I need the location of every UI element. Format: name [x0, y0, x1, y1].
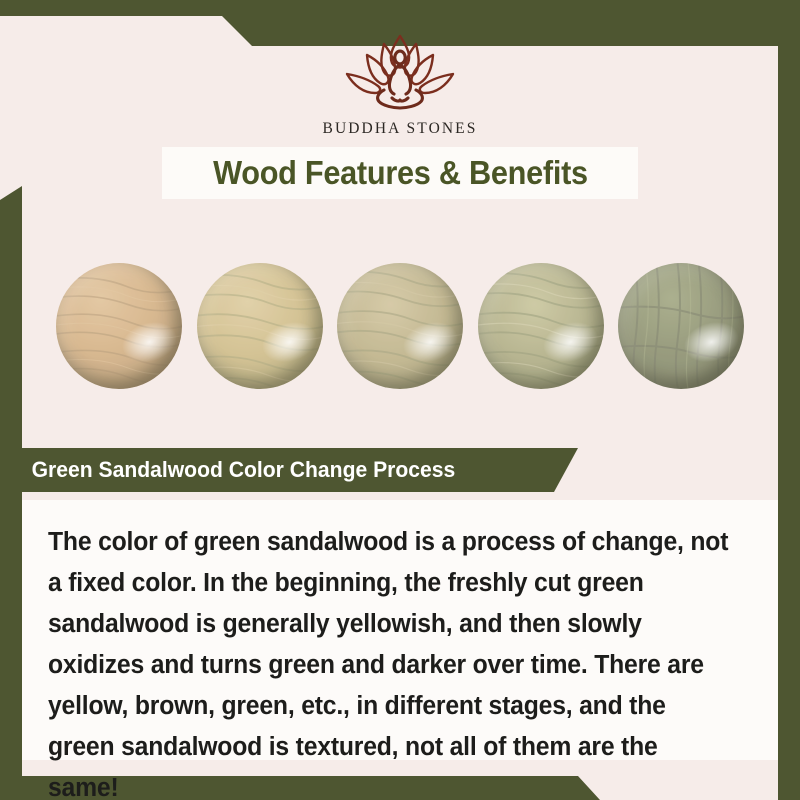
- brand-name: BUDDHA STONES: [323, 120, 478, 138]
- section-banner-title: Green Sandalwood Color Change Process: [22, 457, 455, 483]
- lotus-meditation-icon: [334, 30, 466, 116]
- bead-stage-2[interactable]: [197, 263, 323, 389]
- bead-shading: [337, 263, 463, 389]
- body-paragraph: The color of green sandalwood is a proce…: [48, 522, 731, 800]
- header: BUDDHA STONES Wood Features & Benefits: [22, 16, 778, 206]
- bead-shading: [197, 263, 323, 389]
- bead-shading: [618, 263, 744, 389]
- page-title-band: Wood Features & Benefits: [162, 147, 638, 199]
- page-title: Wood Features & Benefits: [213, 154, 588, 192]
- section-banner: Green Sandalwood Color Change Process: [22, 448, 578, 492]
- bead-stage-5[interactable]: [618, 263, 744, 389]
- bead-shading: [478, 263, 604, 389]
- bead-shading: [56, 263, 182, 389]
- bead-stage-4[interactable]: [478, 263, 604, 389]
- bead-stage-3[interactable]: [337, 263, 463, 389]
- bead-color-stage-row: [22, 246, 778, 406]
- infographic-poster: BUDDHA STONES Wood Features & Benefits: [0, 0, 800, 800]
- left-green-accent-bar: [0, 186, 22, 800]
- bead-stage-1[interactable]: [56, 263, 182, 389]
- body-text-panel: The color of green sandalwood is a proce…: [22, 500, 778, 760]
- brand-logo: BUDDHA STONES: [22, 30, 778, 138]
